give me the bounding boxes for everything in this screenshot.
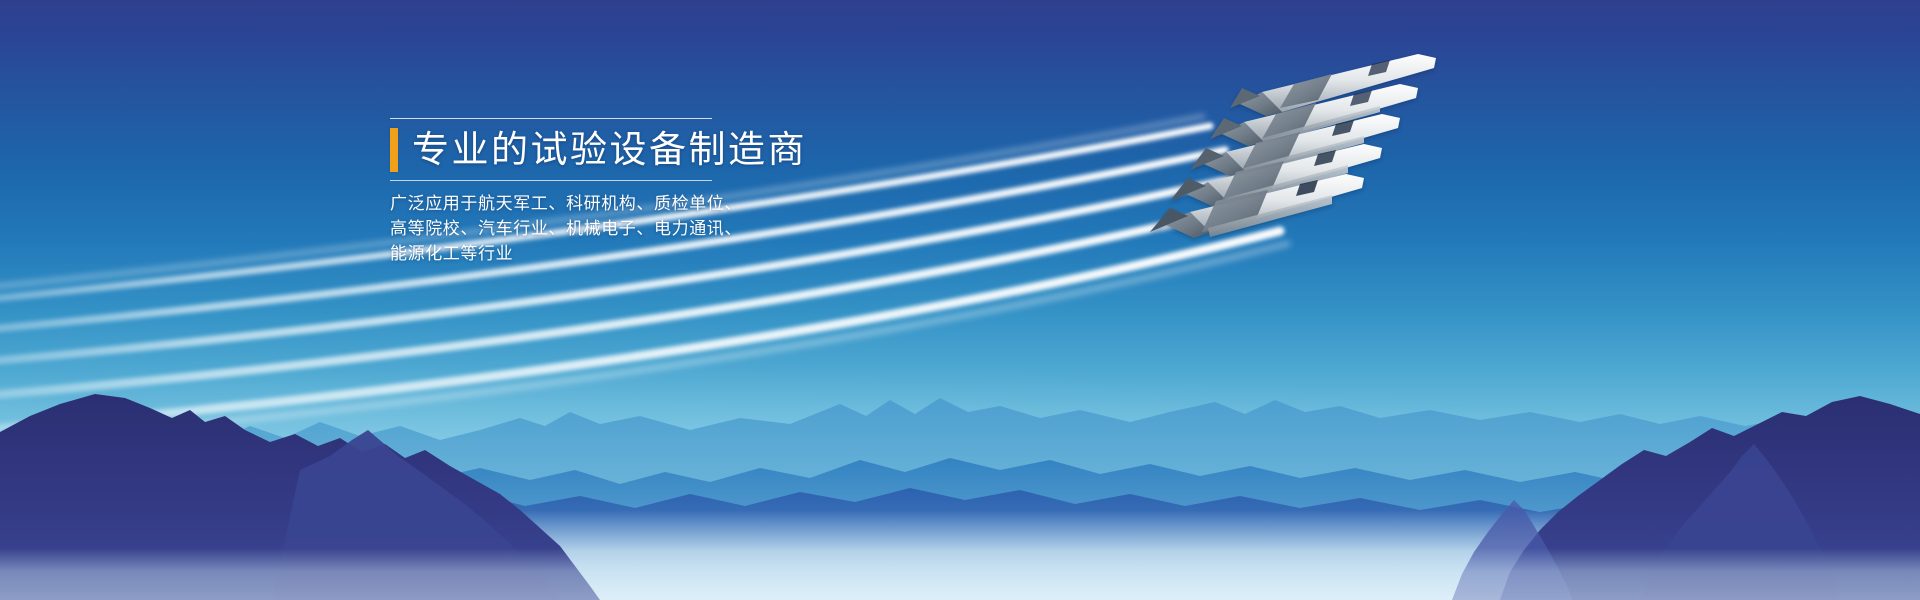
hero-banner: 专业的试验设备制造商 广泛应用于航天军工、科研机构、质检单位、 高等院校、汽车行…: [0, 0, 1920, 600]
mountain-range-silhouette: [0, 360, 1920, 600]
page-title: 专业的试验设备制造商: [412, 128, 807, 172]
headline-row: 专业的试验设备制造商: [390, 128, 950, 172]
banner-copy-block: 专业的试验设备制造商 广泛应用于航天军工、科研机构、质检单位、 高等院校、汽车行…: [390, 118, 950, 266]
subtitle-line: 广泛应用于航天军工、科研机构、质检单位、: [390, 191, 950, 216]
orange-accent-bar: [390, 128, 398, 172]
title-rule-top: [390, 118, 712, 119]
title-rule-bottom: [390, 180, 712, 181]
subtitle-line: 高等院校、汽车行业、机械电子、电力通讯、: [390, 216, 950, 241]
subtitle-block: 广泛应用于航天军工、科研机构、质检单位、 高等院校、汽车行业、机械电子、电力通讯…: [390, 191, 950, 266]
fighter-jet-formation-icon: [1130, 40, 1550, 270]
subtitle-line: 能源化工等行业: [390, 241, 950, 266]
